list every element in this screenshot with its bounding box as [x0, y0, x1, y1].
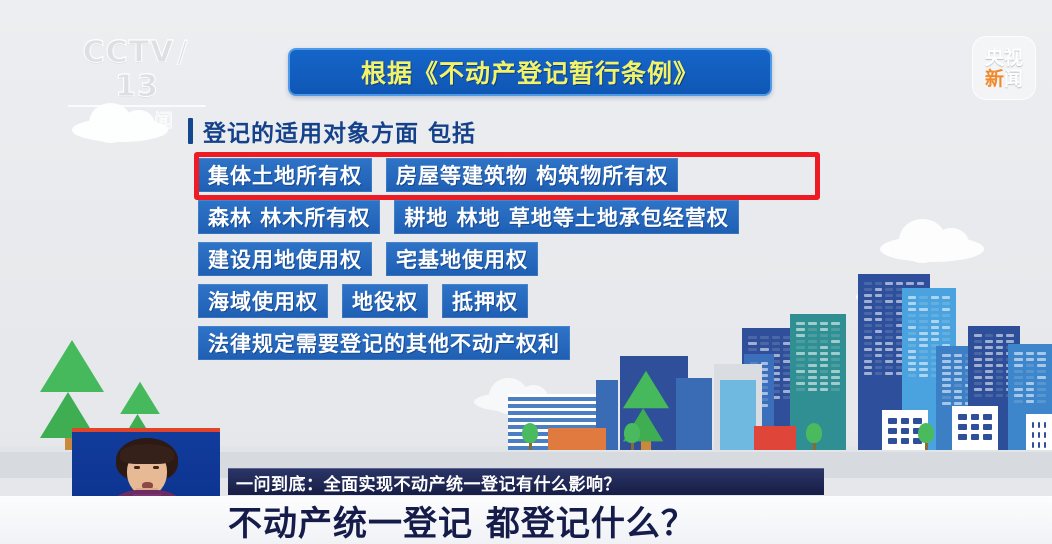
anchor-eye-right: [153, 466, 159, 469]
property-right-chip: 抵押权: [442, 284, 528, 318]
bush-tree: [918, 423, 934, 450]
red-building: [754, 426, 796, 450]
bush-tree: [806, 423, 822, 450]
apartment-windows: [958, 414, 992, 440]
section-heading: 登记的适用对象方面 包括: [188, 114, 476, 148]
logo-divider: [68, 105, 206, 107]
list-row: 建设用地使用权宅基地使用权: [198, 242, 898, 276]
cctv-news-app-logo: 央视 新闻: [972, 36, 1036, 100]
headline-text: 不动产统一登记 都登记什么？: [228, 496, 696, 544]
property-right-chip: 房屋等建筑物 构筑物所有权: [386, 158, 678, 192]
property-right-chip: 海域使用权: [198, 284, 328, 318]
property-right-chip: 地役权: [342, 284, 428, 318]
building-block: [676, 378, 712, 450]
apartment-windows: [1032, 422, 1046, 448]
cctv-wordmark: CCTV: [83, 35, 175, 70]
registration-object-list: 集体土地所有权房屋等建筑物 构筑物所有权森林 林木所有权耕地 林地 草地等土地承…: [198, 158, 898, 368]
headline-bar: 不动产统一登记 都登记什么？: [0, 496, 1052, 544]
heading-accent-bar: [188, 118, 193, 144]
property-right-chip: 集体土地所有权: [198, 158, 372, 192]
news-logo-xin: 新: [985, 68, 1004, 90]
news-logo-line1: 央视: [985, 48, 1023, 68]
list-row: 海域使用权地役权抵押权: [198, 284, 898, 318]
property-right-chip: 宅基地使用权: [386, 242, 538, 276]
apartment-block: [1026, 414, 1052, 450]
apartment-block: [952, 406, 998, 450]
news-logo-line2: 新闻: [985, 69, 1023, 89]
news-logo-wen: 闻: [1004, 68, 1023, 90]
title-banner-text: 根据《不动产登记暂行条例》: [361, 54, 699, 90]
bush-tree: [624, 423, 640, 450]
property-right-chip: 森林 林木所有权: [198, 200, 380, 234]
cctv13-channel-logo: CCTV/13 新 闻: [62, 36, 212, 102]
cloud-decoration: [72, 118, 168, 142]
orange-building: [548, 428, 606, 450]
glass-tower-panel: [720, 380, 756, 450]
heading-text: 登记的适用对象方面 包括: [203, 114, 476, 148]
anchor-eye-left: [134, 466, 140, 469]
apartment-windows: [888, 418, 922, 444]
topic-strip-text: 一问到底：全面实现不动产统一登记有什么影响？: [236, 470, 621, 495]
property-right-chip: 建设用地使用权: [198, 242, 372, 276]
title-banner: 根据《不动产登记暂行条例》: [288, 48, 772, 96]
bush-tree: [522, 423, 538, 450]
building-windows: [1014, 352, 1046, 403]
property-right-chip: 法律规定需要登记的其他不动产权利: [198, 326, 570, 360]
topic-strip: 一问到底：全面实现不动产统一登记有什么影响？: [228, 468, 824, 495]
property-right-chip: 耕地 林地 草地等土地承包经营权: [394, 200, 739, 234]
list-row: 集体土地所有权房屋等建筑物 构筑物所有权: [198, 158, 898, 192]
list-row: 森林 林木所有权耕地 林地 草地等土地承包经营权: [198, 200, 898, 234]
cctv-channel-number: 13: [115, 69, 159, 104]
anchor-fringe: [120, 444, 174, 464]
list-row: 法律规定需要登记的其他不动产权利: [198, 326, 898, 360]
broadcast-screen: CCTV/13 新 闻 央视 新闻: [0, 0, 1052, 544]
